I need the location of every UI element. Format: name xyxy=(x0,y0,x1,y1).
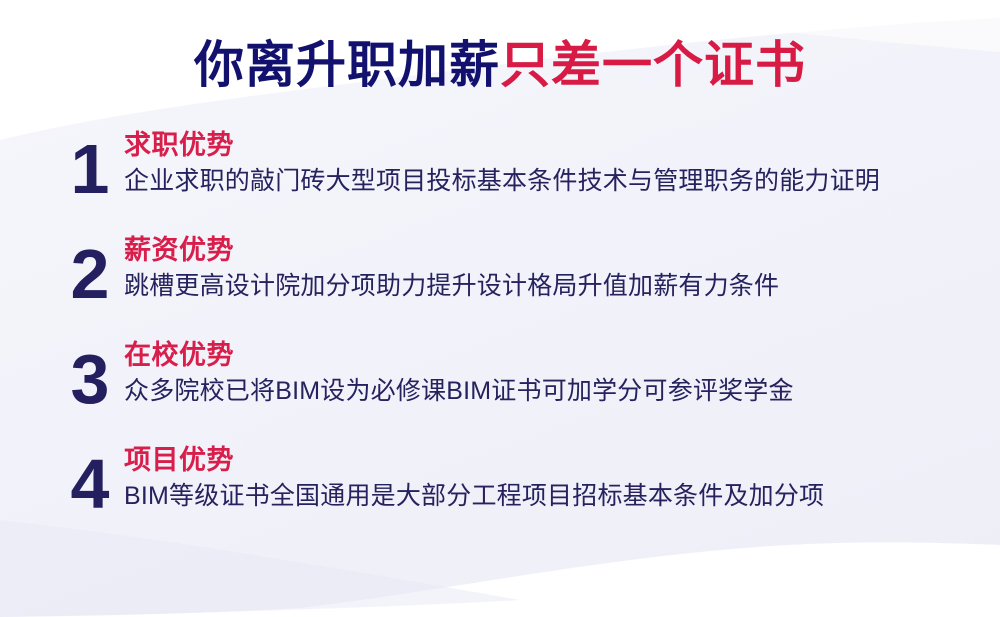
title-part-navy: 你离升职加薪 xyxy=(194,37,500,93)
list-item: 4 项目优势 BIM等级证书全国通用是大部分工程项目招标基本条件及加分项 xyxy=(58,445,988,550)
title-part-red: 只差一个证书 xyxy=(500,37,806,93)
list-item: 2 薪资优势 跳槽更高设计院加分项助力提升设计格局升值加薪有力条件 xyxy=(58,235,988,340)
item-content: 在校优势 众多院校已将BIM设为必修课BIM证书可加学分可参评奖学金 xyxy=(124,340,794,407)
item-heading: 薪资优势 xyxy=(124,235,779,267)
list-item: 1 求职优势 企业求职的敲门砖大型项目投标基本条件技术与管理职务的能力证明 xyxy=(58,130,988,235)
benefits-list: 1 求职优势 企业求职的敲门砖大型项目投标基本条件技术与管理职务的能力证明 2 … xyxy=(58,130,988,550)
item-description: 跳槽更高设计院加分项助力提升设计格局升值加薪有力条件 xyxy=(124,271,779,302)
item-heading: 在校优势 xyxy=(124,340,794,372)
item-number: 1 xyxy=(58,136,120,203)
item-number: 2 xyxy=(58,241,120,308)
item-content: 求职优势 企业求职的敲门砖大型项目投标基本条件技术与管理职务的能力证明 xyxy=(124,130,880,197)
item-description: 众多院校已将BIM设为必修课BIM证书可加学分可参评奖学金 xyxy=(124,376,794,407)
list-item: 3 在校优势 众多院校已将BIM设为必修课BIM证书可加学分可参评奖学金 xyxy=(58,340,988,445)
item-content: 薪资优势 跳槽更高设计院加分项助力提升设计格局升值加薪有力条件 xyxy=(124,235,779,302)
item-number: 3 xyxy=(58,346,120,413)
item-content: 项目优势 BIM等级证书全国通用是大部分工程项目招标基本条件及加分项 xyxy=(124,445,824,512)
item-description: 企业求职的敲门砖大型项目投标基本条件技术与管理职务的能力证明 xyxy=(124,166,880,197)
item-heading: 求职优势 xyxy=(124,130,880,162)
item-description: BIM等级证书全国通用是大部分工程项目招标基本条件及加分项 xyxy=(124,481,824,512)
promo-poster: 你离升职加薪只差一个证书 1 求职优势 企业求职的敲门砖大型项目投标基本条件技术… xyxy=(0,0,1000,617)
item-heading: 项目优势 xyxy=(124,445,824,477)
page-title: 你离升职加薪只差一个证书 xyxy=(0,38,1000,93)
item-number: 4 xyxy=(58,451,120,518)
